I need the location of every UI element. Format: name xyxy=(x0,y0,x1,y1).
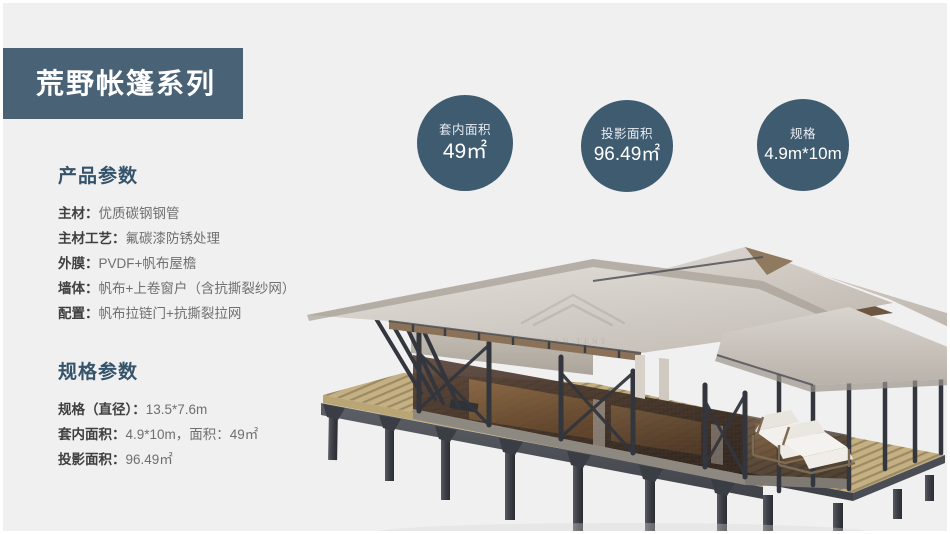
title-banner: 荒野帐篷系列 xyxy=(3,48,243,119)
section-heading-product: 产品参数 xyxy=(58,166,358,189)
param-label: 主材： xyxy=(58,206,99,221)
param-value: 优质碳钢钢管 xyxy=(99,206,180,221)
param-label: 套内面积： xyxy=(58,427,126,442)
stat-bubble-group: 套内面积 49㎡ 投影面积 96.49㎡ 规格 4.9m*10m xyxy=(409,95,929,195)
param-label: 主材工艺： xyxy=(58,231,126,246)
stat-bubble-projected-area: 投影面积 96.49㎡ xyxy=(581,100,673,192)
param-value: 帆布+上卷窗户（含抗撕裂纱网） xyxy=(99,281,296,296)
stat-label: 套内面积 xyxy=(439,123,491,138)
param-value: 4.9*10m，面积：49㎡ xyxy=(126,427,259,442)
stat-label: 规格 xyxy=(790,127,816,142)
tent-render-image xyxy=(293,203,950,534)
param-label: 外膜： xyxy=(58,256,99,271)
param-value: PVDF+帆布屋檐 xyxy=(99,256,197,271)
stat-label: 投影面积 xyxy=(601,127,653,142)
stat-value: 4.9m*10m xyxy=(764,145,841,163)
stat-value: 49㎡ xyxy=(443,141,487,163)
stat-value: 96.49㎡ xyxy=(594,145,661,165)
param-label: 规格（直径）： xyxy=(58,402,146,417)
param-label: 投影面积： xyxy=(58,452,126,467)
page-title: 荒野帐篷系列 xyxy=(36,70,216,98)
stat-bubble-dimensions: 规格 4.9m*10m xyxy=(757,99,849,191)
param-value: 氟碳漆防锈处理 xyxy=(126,231,221,246)
param-value: 96.49㎡ xyxy=(126,452,173,467)
param-label: 墙体： xyxy=(58,281,99,296)
param-label: 配置： xyxy=(58,306,99,321)
param-value: 帆布拉链门+抗撕裂拉网 xyxy=(99,306,242,321)
slide-root: 荒野帐篷系列 产品参数 主材：优质碳钢钢管 主材工艺：氟碳漆防锈处理 外膜：PV… xyxy=(0,0,950,534)
param-value: 13.5*7.6m xyxy=(146,402,208,417)
stat-bubble-interior-area: 套内面积 49㎡ xyxy=(417,95,513,191)
